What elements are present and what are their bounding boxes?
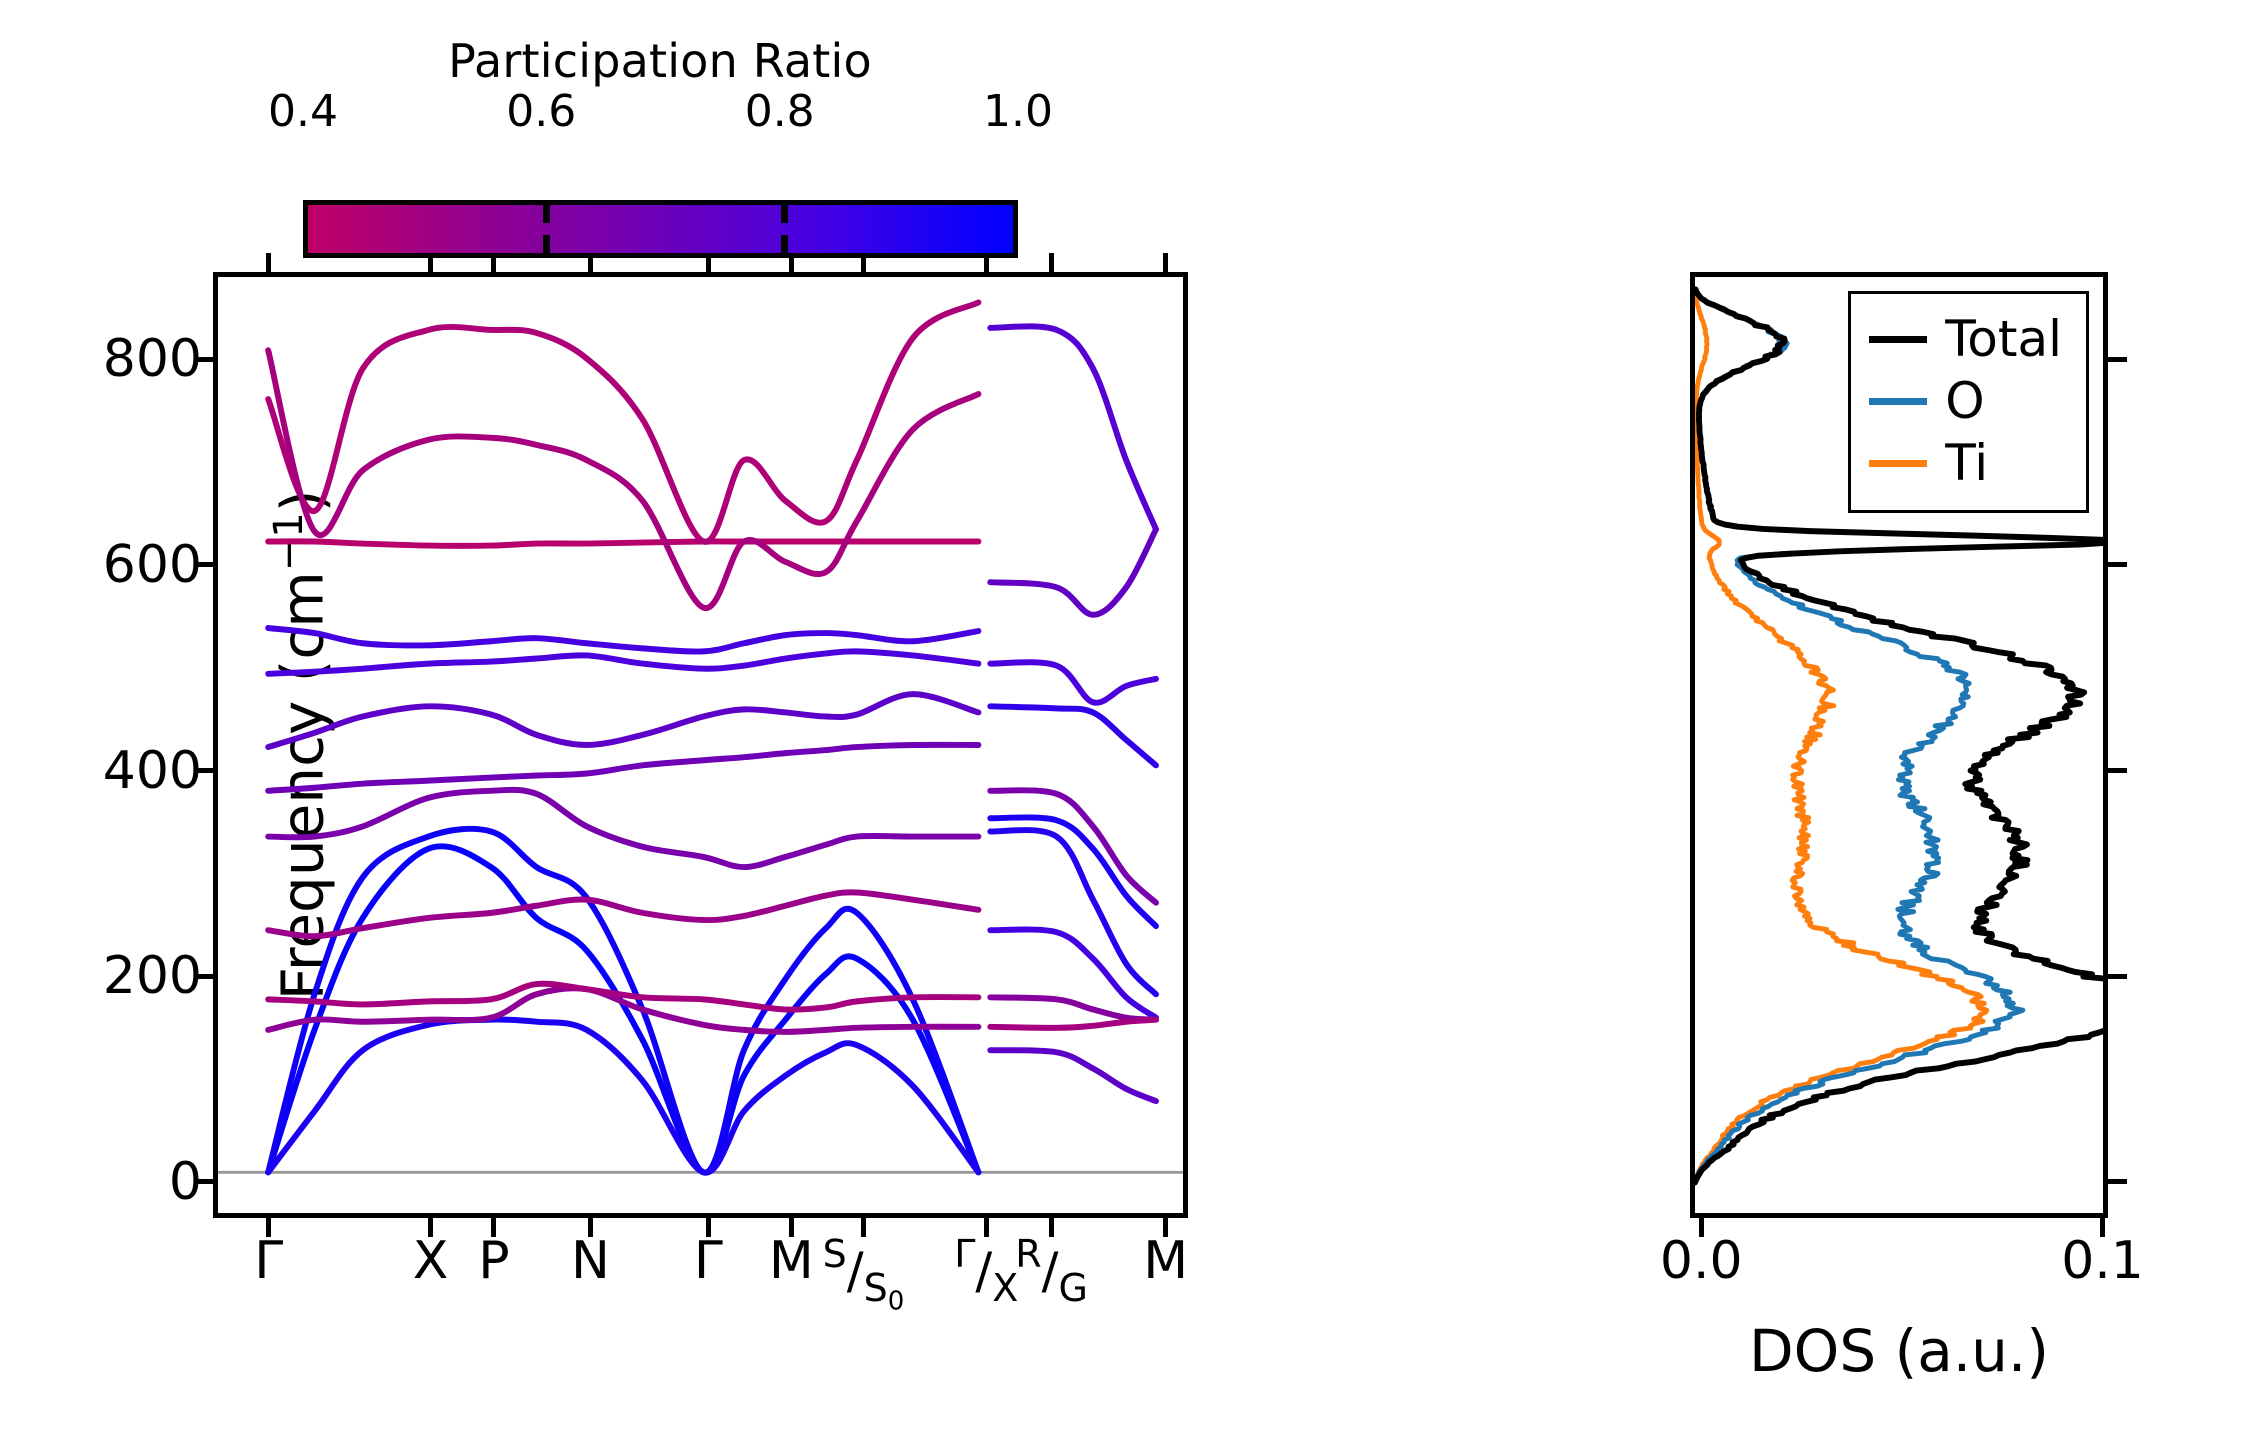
y-tick-label-4: 800 (103, 329, 202, 389)
colorbar-tick-label-0: 0.4 (268, 86, 338, 137)
colorbar-title: Participation Ratio (300, 34, 1020, 88)
x-tick-label-7: Γ/X (954, 1235, 1018, 1307)
dos-panel: 0.00.1 DOS (a.u.) TotalOTi (1690, 272, 2108, 1218)
colorbar-tick-mark (543, 235, 550, 253)
band-curve-right-10 (990, 1050, 1156, 1101)
colorbar-tick-label-1: 0.6 (506, 86, 576, 137)
dos-legend: TotalOTi (1848, 291, 2089, 513)
x-tick-mark (861, 253, 866, 277)
figure-root: Participation Ratio 0.40.60.81.0 Frequen… (0, 0, 2245, 1455)
band-curve-10 (268, 628, 978, 652)
x-tick-mark (1163, 253, 1168, 277)
legend-swatch-o (1869, 398, 1927, 405)
legend-label-ti: Ti (1945, 438, 1988, 488)
colorbar-tick-mark (781, 235, 788, 253)
band-curve-right-3 (990, 706, 1156, 765)
x-tick-label-8: R/G (1015, 1235, 1088, 1307)
y-tick-label-1: 200 (103, 946, 202, 1006)
dos-y-tick-mark (2103, 357, 2127, 362)
band-curve-right-2 (990, 662, 1156, 703)
x-tick-label-0: Γ (254, 1235, 283, 1287)
legend-swatch-total (1869, 336, 1927, 343)
x-tick-mark (984, 253, 989, 277)
x-tick-mark (984, 1213, 989, 1237)
band-curve-2 (268, 1020, 978, 1173)
x-tick-label-2: P (478, 1235, 509, 1287)
band-curve-right-0 (990, 326, 1156, 529)
colorbar-tick-mark (781, 205, 788, 223)
colorbar-tick-label-2: 0.8 (745, 86, 815, 137)
x-tick-mark (588, 253, 593, 277)
colorbar-gradient (308, 205, 1013, 253)
dos-x-tick-label-0: 0.0 (1660, 1235, 1743, 1287)
legend-label-o: O (1945, 376, 1984, 426)
colorbar-tick-mark (543, 205, 550, 223)
x-tick-mark (266, 253, 271, 277)
band-curve-8 (268, 694, 978, 747)
band-curve-right-5 (990, 817, 1156, 926)
band-curve-right-4 (990, 790, 1156, 902)
band-curve-6 (268, 790, 978, 867)
x-tick-label-1: X (413, 1235, 449, 1287)
x-tick-mark (706, 253, 711, 277)
legend-label-total: Total (1945, 314, 2062, 364)
colorbar-tick-label-3: 1.0 (983, 86, 1053, 137)
y-tick-label-0: 0 (169, 1152, 202, 1212)
dos-y-tick-mark (2103, 1179, 2127, 1184)
legend-swatch-ti (1869, 460, 1927, 467)
x-tick-label-3: N (571, 1235, 610, 1287)
band-curve-9 (268, 651, 978, 673)
x-tick-mark (789, 253, 794, 277)
legend-item-o[interactable]: O (1869, 370, 2062, 432)
band-curve-7 (268, 745, 978, 791)
dos-y-tick-mark (2103, 974, 2127, 979)
band-structure-panel: Frequency (cm−1) 0200400600800 ΓXPNΓMS/S… (213, 272, 1188, 1218)
legend-item-ti[interactable]: Ti (1869, 432, 2062, 494)
band-curve-11 (268, 541, 978, 545)
x-tick-label-4: Γ (694, 1235, 723, 1287)
dos-x-axis-label: DOS (a.u.) (1695, 1317, 2103, 1385)
legend-item-total[interactable]: Total (1869, 308, 2062, 370)
x-tick-label-9: M (1143, 1235, 1188, 1287)
dos-y-tick-mark (2103, 562, 2127, 567)
x-tick-mark (428, 253, 433, 277)
colorbar (303, 200, 1018, 258)
band-curve-right-9 (990, 1020, 1156, 1028)
x-tick-label-5: M (769, 1235, 814, 1287)
band-curves (218, 277, 1183, 1213)
y-tick-label-3: 600 (103, 535, 202, 595)
x-tick-mark (861, 1213, 866, 1237)
dos-y-tick-mark (2103, 768, 2127, 773)
x-tick-mark (1049, 1213, 1054, 1237)
band-curve-12 (268, 302, 978, 541)
x-tick-mark (491, 253, 496, 277)
band-curve-right-6 (990, 830, 1156, 994)
band-curve-right-1 (990, 529, 1156, 614)
y-tick-label-2: 400 (103, 741, 202, 801)
dos-x-tick-label-1: 0.1 (2061, 1235, 2144, 1287)
x-tick-label-6: S/S0 (823, 1235, 905, 1315)
x-tick-mark (1049, 253, 1054, 277)
colorbar-tick-labels: 0.40.60.81.0 (0, 86, 2245, 136)
